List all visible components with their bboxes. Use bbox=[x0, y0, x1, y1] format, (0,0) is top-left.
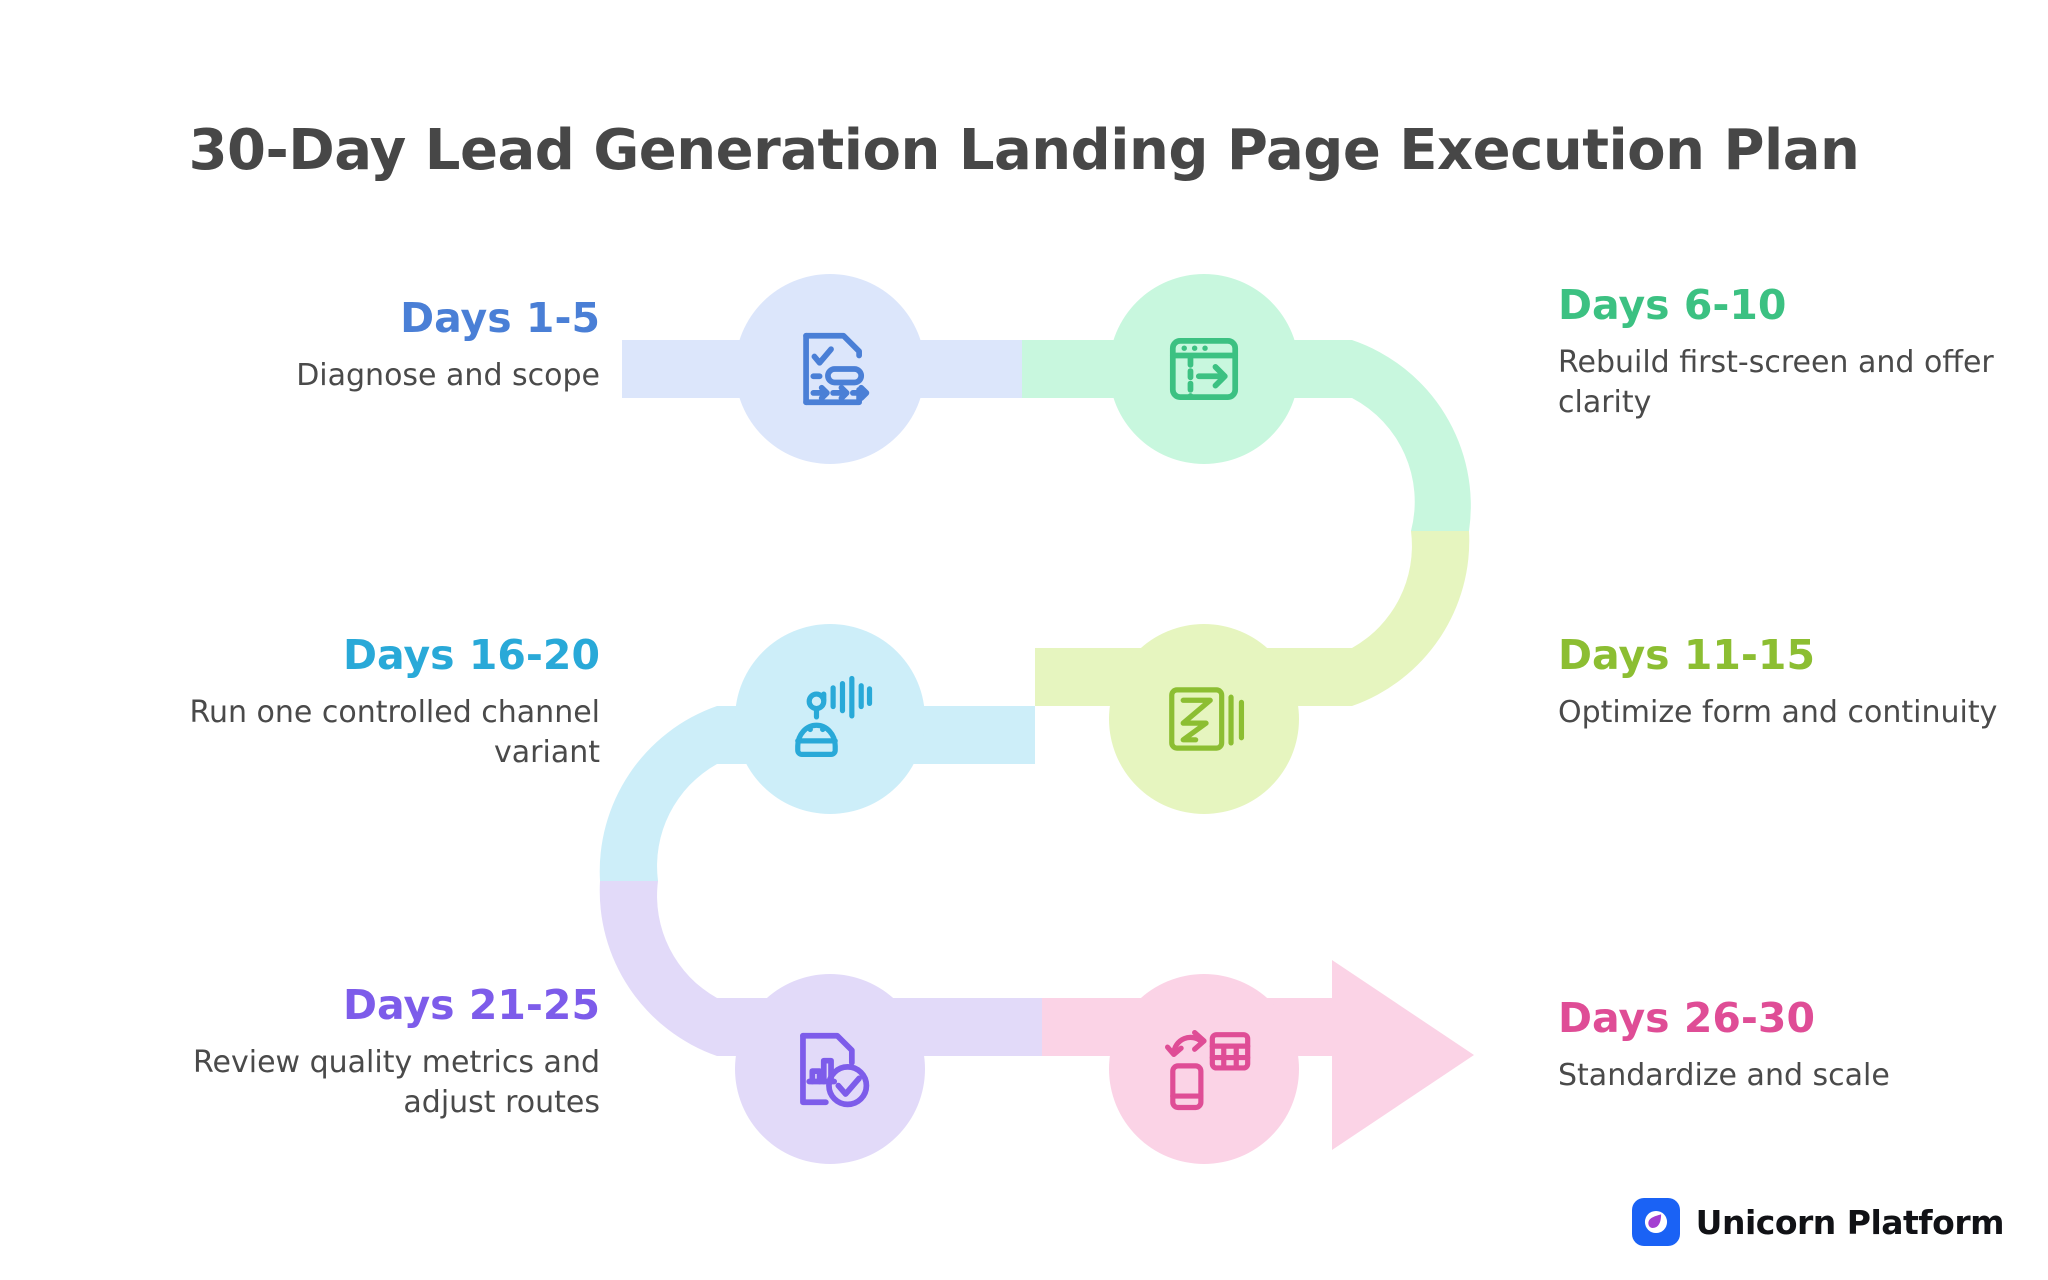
infographic-canvas: 30-Day Lead Generation Landing Page Exec… bbox=[0, 0, 2048, 1280]
step-text-4: Days 16-20 Run one controlled channel va… bbox=[140, 632, 600, 772]
step-text-6: Days 26-30 Standardize and scale bbox=[1558, 995, 2018, 1096]
step-description-6: Standardize and scale bbox=[1558, 1056, 2018, 1096]
step-text-3: Days 11-15 Optimize form and continuity bbox=[1558, 632, 2018, 733]
step-text-5: Days 21-25 Review quality metrics and ad… bbox=[140, 982, 600, 1122]
step-days-2: Days 6-10 bbox=[1558, 282, 2018, 329]
mobile-swap-grid-icon bbox=[1152, 1017, 1256, 1121]
step-node-6[interactable] bbox=[1109, 974, 1299, 1164]
step-description-2: Rebuild first-screen and offer clarity bbox=[1558, 343, 2018, 422]
step-days-3: Days 11-15 bbox=[1558, 632, 2018, 679]
report-chart-check-icon bbox=[778, 1017, 882, 1121]
step-days-1: Days 1-5 bbox=[140, 295, 600, 342]
brand-logo: Unicorn Platform bbox=[1632, 1198, 2004, 1246]
step-node-5[interactable] bbox=[735, 974, 925, 1164]
step-node-1[interactable] bbox=[735, 274, 925, 464]
step-node-2[interactable] bbox=[1109, 274, 1299, 464]
robot-signal-waves-icon bbox=[778, 667, 882, 771]
brand-name: Unicorn Platform bbox=[1696, 1203, 2004, 1242]
step-text-2: Days 6-10 Rebuild first-screen and offer… bbox=[1558, 282, 2018, 422]
step-days-4: Days 16-20 bbox=[140, 632, 600, 679]
unicorn-leaf-logo-icon bbox=[1632, 1198, 1680, 1246]
step-text-1: Days 1-5 Diagnose and scope bbox=[140, 295, 600, 396]
step-node-4[interactable] bbox=[735, 624, 925, 814]
step-description-3: Optimize form and continuity bbox=[1558, 693, 2018, 733]
form-card-zigzag-icon bbox=[1152, 667, 1256, 771]
step-days-5: Days 21-25 bbox=[140, 982, 600, 1029]
browser-window-arrow-icon bbox=[1152, 317, 1256, 421]
step-days-6: Days 26-30 bbox=[1558, 995, 2018, 1042]
step-description-4: Run one controlled channel variant bbox=[140, 693, 600, 772]
document-checklist-arrows-icon bbox=[778, 317, 882, 421]
step-description-1: Diagnose and scope bbox=[140, 356, 600, 396]
step-description-5: Review quality metrics and adjust routes bbox=[140, 1043, 600, 1122]
step-node-3[interactable] bbox=[1109, 624, 1299, 814]
